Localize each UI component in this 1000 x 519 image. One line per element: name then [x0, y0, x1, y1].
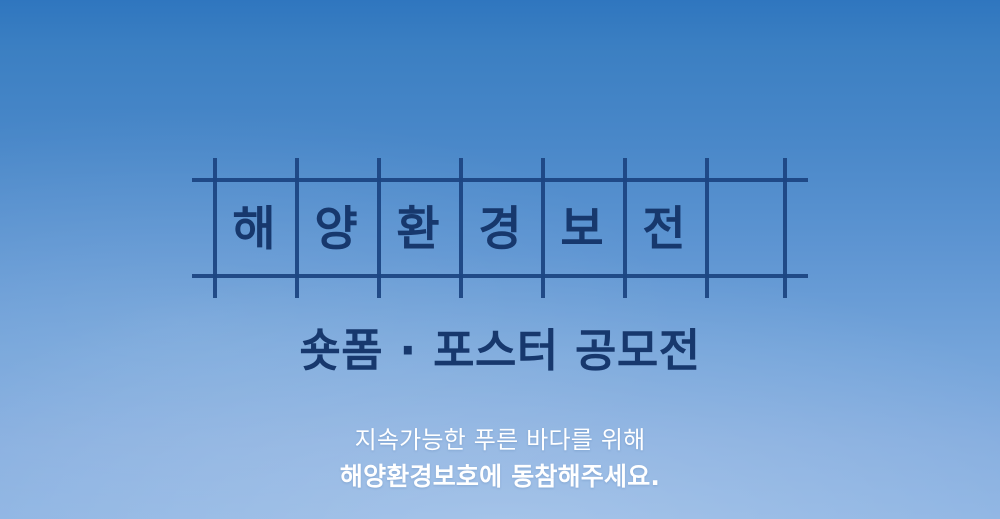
headline-char-3: 환	[396, 206, 439, 253]
headline-char-2: 양	[314, 206, 357, 253]
poster-subtitle: 숏폼 · 포스터 공모전	[0, 325, 1000, 377]
headline-char-4: 경	[478, 206, 521, 253]
poster-hero-banner: 해 양 환 경 보 전 숏폼 · 포스터 공모전 지속가능한 푸른 바다를 위해…	[0, 0, 1000, 519]
headline-cell-4: 경	[459, 178, 541, 278]
headline-cell-3: 환	[377, 178, 459, 278]
headline-cell-7	[705, 178, 787, 278]
headline-char-6: 전	[642, 206, 685, 253]
headline-cell-5: 보	[541, 178, 623, 278]
headline-cell-6: 전	[623, 178, 705, 278]
headline-manuscript-grid: 해 양 환 경 보 전	[213, 178, 787, 278]
tagline-line-1: 지속가능한 푸른 바다를 위해	[0, 422, 1000, 458]
tagline-line-2: 해양환경보호에 동참해주세요.	[0, 458, 1000, 497]
poster-tagline: 지속가능한 푸른 바다를 위해 해양환경보호에 동참해주세요.	[0, 422, 1000, 497]
headline-char-5: 보	[560, 206, 603, 253]
headline-cell-2: 양	[295, 178, 377, 278]
headline-cell-1: 해	[213, 178, 295, 278]
headline-char-1: 해	[232, 206, 275, 253]
